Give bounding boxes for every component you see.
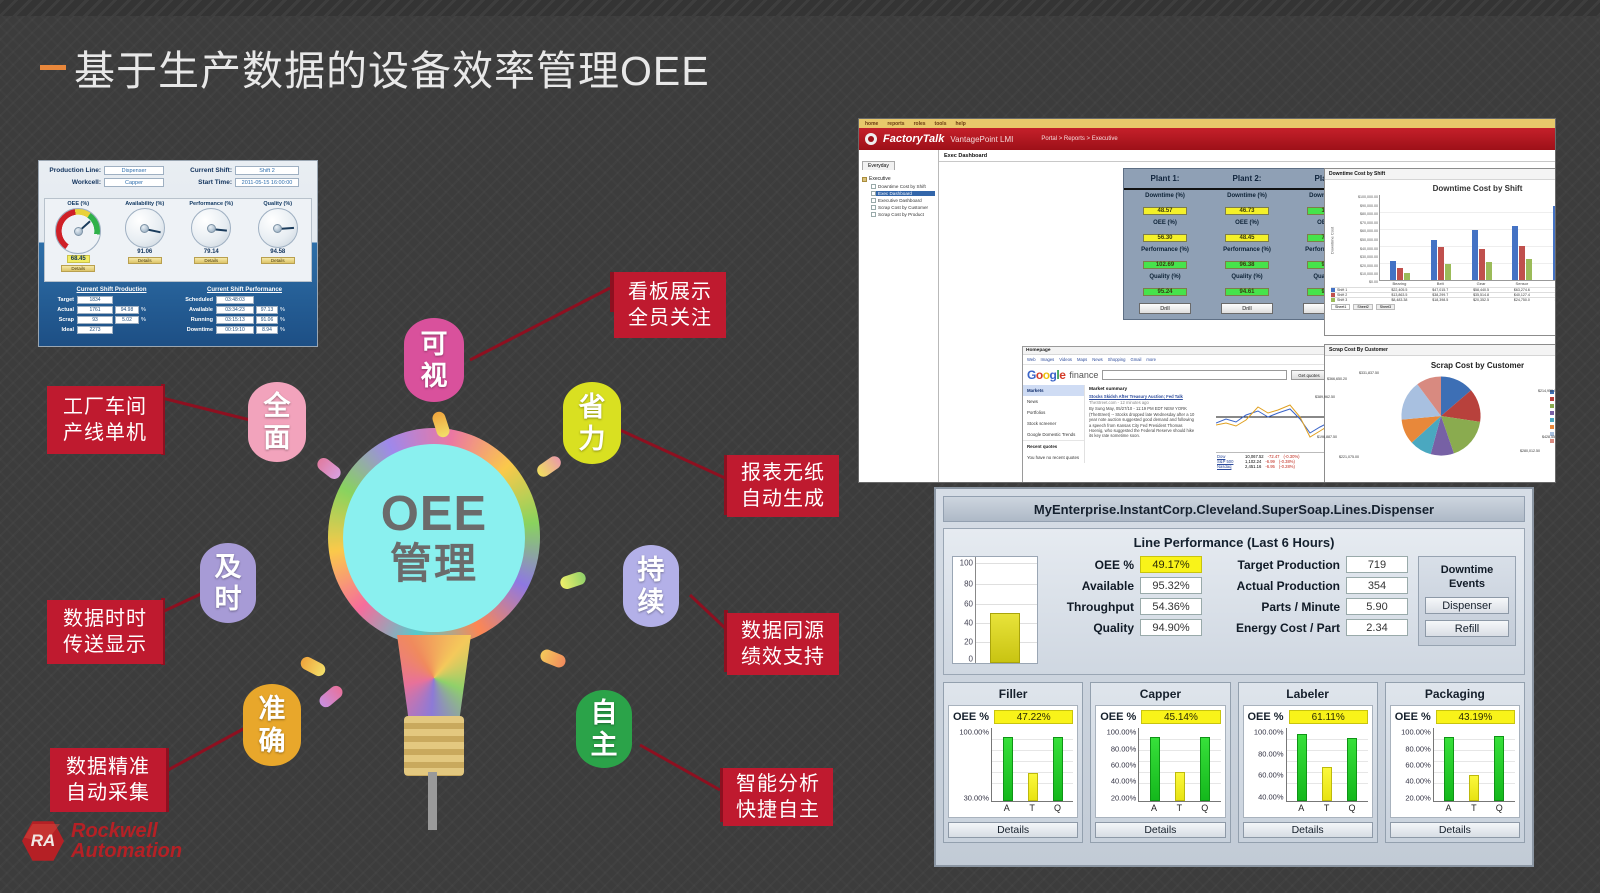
tree-item-label: Scrap Cost by Product	[878, 212, 924, 217]
legend-label: Shift 2	[1337, 293, 1347, 297]
y-tick: 40.00%	[1111, 777, 1136, 786]
gauge-oee-title: OEE (%)	[67, 201, 89, 207]
note-report-line1: 报表无纸	[741, 460, 825, 486]
bar-group-gear	[1472, 230, 1492, 280]
current-shift-production-table: Current Shift Production Target1834 Actu…	[45, 287, 178, 336]
pill-chixu-line1: 持	[638, 554, 665, 586]
row-unit: %	[280, 327, 285, 333]
gauge-quality: Quality (%) 94.58 Details	[245, 199, 312, 281]
rockwell-hex-icon: RA	[22, 820, 64, 862]
pill-zhunque-line1: 准	[259, 693, 286, 725]
bulb-neck	[392, 635, 476, 721]
row-key: Downtime	[178, 327, 216, 333]
tab-sheet2[interactable]: Sheet2	[1353, 304, 1372, 310]
bulb-screw-base	[404, 716, 464, 776]
pill-chixu[interactable]: 持 续	[623, 545, 679, 627]
plant-2-header: Plant 2:	[1206, 169, 1288, 188]
y-tick: 80.00%	[1111, 744, 1136, 753]
y-axis-label: Downtime Cost	[1330, 227, 1335, 254]
gf-nav-web[interactable]: Web	[1027, 357, 1036, 362]
mini-x-axis: A T Q	[1138, 802, 1220, 813]
oee-bar-chart: 100 80 60 40 20 0	[952, 556, 1038, 664]
y-tick: 80.00%	[1258, 749, 1283, 758]
x-tick: Bearing	[1379, 281, 1420, 286]
pill-zizhu-line2: 主	[591, 729, 618, 761]
downtime-title-line1: Downtime	[1425, 563, 1509, 577]
x-tick: Solenoid	[1542, 281, 1556, 286]
station-oee-value: 47.22%	[994, 710, 1073, 724]
bulb-stem	[428, 772, 437, 830]
mini-x-axis: A T Q	[991, 802, 1073, 813]
metric-value: 54.36%	[1140, 598, 1202, 615]
line-performance-grid: 100 80 60 40 20 0 OEE %49.17% Available9…	[952, 556, 1516, 664]
metric-value: 354	[1346, 577, 1408, 594]
gf-body-text: By Sung May, 05/27/10 - 11:19 PM EDT NEW…	[1089, 406, 1197, 438]
y-tick: 60.00%	[1111, 761, 1136, 770]
drill-button-plant1[interactable]: Drill	[1139, 303, 1191, 314]
row-unit: %	[280, 317, 285, 323]
metric-key: Energy Cost / Part	[1212, 621, 1340, 635]
station-mini-chart: 100.00% 80.00% 60.00% 40.00% 20.00%	[1100, 728, 1220, 802]
downtime-button-dispenser[interactable]: Dispenser	[1425, 597, 1509, 614]
note-kanban-line2: 全员关注	[628, 305, 712, 331]
pill-keshi[interactable]: 可 视	[404, 318, 464, 402]
x-axis-labels: Bearing Belt Gear Sensor Solenoid Valve	[1379, 281, 1556, 286]
station-cell-filler[interactable]: Filler OEE % 47.22% 100.00% 30.00%	[943, 682, 1083, 843]
legend-label: Shift 3	[1337, 298, 1347, 302]
label-workcell: Workcell:	[47, 179, 101, 186]
station-oee-label: OEE %	[1100, 711, 1136, 723]
gf-content-title: Market summary	[1089, 387, 1327, 392]
station-mini-chart: 100.00% 80.00% 60.00% 40.00%	[1248, 728, 1368, 802]
pill-jishi-line2: 时	[215, 583, 242, 615]
row-v1: 00:19:10	[216, 326, 254, 334]
metric-actual-production: Actual Production354	[1212, 577, 1408, 594]
x-tick-t: T	[1322, 803, 1332, 813]
note-report[interactable]: 报表无纸 自动生成	[727, 455, 839, 517]
station-title: Labeler	[1243, 687, 1373, 705]
y-tick: 60.00%	[1258, 771, 1283, 780]
gauge-availability-details-button[interactable]: Details	[128, 257, 162, 264]
bulb-center-label: OEE 管理	[343, 444, 525, 632]
tree-item-label: Scrap Cost by Customer	[878, 205, 928, 210]
metric-throughput: Throughput54.36%	[1048, 598, 1202, 615]
gf-sidebar-portfolios[interactable]: Portfolios	[1023, 407, 1084, 418]
metric-label: Performance (%)	[1206, 247, 1288, 253]
pill-quanmian-line1: 全	[264, 390, 291, 422]
metric-value: 2.34	[1346, 619, 1408, 636]
pill-chixu-line2: 续	[638, 586, 665, 618]
gauge-group: OEE (%) 68.45 Details Availability (%) 9…	[44, 198, 312, 282]
value-production-line[interactable]: Dispenser	[104, 166, 164, 175]
row-key: Ideal	[45, 327, 77, 333]
metric-value: 48.45	[1225, 234, 1269, 242]
gauge-availability-value: 91.06	[137, 249, 152, 255]
pie-label: $221,075.00	[1339, 455, 1359, 459]
metric-label: OEE (%)	[1206, 220, 1288, 226]
title-accent-dash	[40, 65, 66, 70]
bar-quality	[1200, 737, 1210, 801]
note-samesource[interactable]: 数据同源 绩效支持	[727, 613, 839, 675]
factorytalk-menubar[interactable]: home reports roles tools help	[859, 119, 1555, 128]
menu-item-home[interactable]: home	[865, 121, 878, 127]
gf-nav-news[interactable]: News	[1092, 357, 1102, 362]
station-title: Packaging	[1390, 687, 1520, 705]
g-letter-2: o	[1036, 368, 1043, 382]
row-unit: %	[280, 307, 285, 313]
note-factory-line2: 产线单机	[63, 420, 147, 446]
station-body: OEE % 45.14% 100.00% 80.00% 60.00% 40.00…	[1095, 705, 1225, 818]
gf-sidebar-domestic-trends[interactable]: Google Domestic Trends	[1023, 429, 1084, 440]
current-shift-performance-table: Current Shift Performance Scheduled03:48…	[178, 287, 311, 336]
x-tick-q: Q	[1200, 803, 1210, 813]
y-tick: 100.00%	[1107, 728, 1137, 737]
table-row: Ideal2273	[45, 326, 178, 334]
row-v2: 97.13	[256, 306, 278, 314]
metric-label: OEE (%)	[1124, 220, 1206, 226]
tree-item-downtime-cost-by-shift[interactable]: Downtime Cost by Shift	[871, 184, 935, 189]
metric-label: Downtime (%)	[1124, 193, 1206, 199]
gauge-performance-value: 79.14	[204, 249, 219, 255]
metric-value: 102.69	[1143, 261, 1187, 269]
legend-label: Shift 1	[1337, 288, 1347, 292]
folder-icon	[862, 177, 867, 182]
metric-energy-cost-per-part: Energy Cost / Part2.34	[1212, 619, 1408, 636]
gf-sidebar-section: Recent quotes	[1023, 440, 1084, 452]
bar-availability	[1150, 737, 1160, 801]
y-tick: 20	[964, 637, 973, 646]
oee-bar	[990, 613, 1020, 663]
factorytalk-product-name: VantagePoint LMI	[950, 135, 1013, 144]
line-path-title: MyEnterprise.InstantCorp.Cleveland.Super…	[1034, 502, 1434, 517]
row-unit: %	[141, 307, 146, 313]
top-texture-strip	[0, 0, 1600, 16]
bar-availability	[1444, 737, 1454, 801]
metric-available: Available95.32%	[1048, 577, 1202, 594]
mini-y-axis: 100.00% 80.00% 60.00% 40.00%	[1248, 728, 1286, 802]
scrap-cost-window[interactable]: Scrap Cost By Customer Scrap Cost by Cus…	[1324, 344, 1556, 483]
metric-key: OEE %	[1048, 558, 1134, 572]
station-body: OEE % 47.22% 100.00% 30.00%	[948, 705, 1078, 818]
note-realtime[interactable]: 数据时时 传送显示	[47, 600, 163, 664]
station-oee-row: OEE % 47.22%	[953, 710, 1073, 724]
y-tick: 20.00%	[1405, 793, 1430, 802]
metric-value: 95.32%	[1140, 577, 1202, 594]
row-v1: 1761	[77, 306, 113, 314]
downtime-title-line2: Events	[1425, 577, 1509, 591]
g-letter-3: o	[1043, 368, 1050, 382]
tree-item-exec-dashboard[interactable]: Exec Dashboard	[871, 191, 935, 196]
bar-group-belt	[1431, 240, 1451, 280]
metric-value: 49.17%	[1140, 556, 1202, 573]
gauge-oee-details-button[interactable]: Details	[61, 265, 95, 272]
value-start-time[interactable]: 2011-05-15 16:00:00	[235, 178, 299, 187]
table-row: Downtime00:19:108.94%	[178, 326, 311, 334]
mini-plot	[1433, 728, 1515, 802]
row-key: Scheduled	[178, 297, 216, 303]
factorytalk-body: Everyday Executive Downtime Cost by Shif…	[859, 150, 1555, 483]
gf-sidebar[interactable]: Markets News Portfolios Stock screener G…	[1023, 385, 1085, 463]
pill-jishi-line1: 及	[215, 551, 242, 583]
mini-x-axis: A T Q	[1433, 802, 1515, 813]
factorytalk-tree-panel[interactable]: Everyday Executive Downtime Cost by Shif…	[859, 150, 939, 483]
station-oee-row: OEE % 45.14%	[1100, 710, 1220, 724]
note-accurate-line2: 自动采集	[66, 780, 150, 806]
note-analysis[interactable]: 智能分析 快捷自主	[723, 768, 833, 826]
pill-quanmian-line2: 面	[264, 422, 291, 454]
oee-lightbulb-graphic: OEE 管理	[300, 420, 570, 860]
tab-everyday[interactable]: Everyday	[862, 161, 895, 170]
pie-label: $280,012.50	[1520, 449, 1540, 453]
tree-item-scrap-cost-by-product[interactable]: Scrap Cost by Product	[871, 212, 935, 217]
downtime-button-refill[interactable]: Refill	[1425, 620, 1509, 637]
metric-oee: OEE %49.17%	[1048, 556, 1202, 573]
gf-nav-shopping[interactable]: Shopping	[1108, 357, 1126, 362]
tab-sheet3[interactable]: Sheet3	[1376, 304, 1395, 310]
bar-quality	[1053, 737, 1063, 801]
details-button-labeler[interactable]: Details	[1243, 822, 1373, 838]
metric-value: 94.61	[1225, 288, 1269, 296]
tree-root-label: Executive	[869, 176, 891, 182]
station-cells: Filler OEE % 47.22% 100.00% 30.00%	[943, 682, 1525, 843]
gauge-performance-details-button[interactable]: Details	[194, 257, 228, 264]
production-table-title: Current Shift Production	[45, 287, 178, 293]
gf-sidebar-markets[interactable]: Markets	[1023, 385, 1084, 396]
table-row: Target1834	[45, 296, 178, 304]
gauge-oee-value: 68.45	[67, 255, 90, 263]
gf-nav-gmail[interactable]: Gmail	[1130, 357, 1141, 362]
station-oee-value: 61.11%	[1289, 710, 1368, 724]
note-realtime-line2: 传送显示	[63, 632, 147, 658]
gf-nav-videos[interactable]: Videos	[1059, 357, 1072, 362]
row-v1: 03:48:03	[216, 296, 254, 304]
row-key: Scrap	[45, 317, 77, 323]
table-row: Actual176194.98%	[45, 306, 178, 314]
note-factory[interactable]: 工厂车间 产线单机	[47, 386, 163, 454]
metric-key: Quality	[1048, 621, 1134, 635]
line-performance-screenshot[interactable]: MyEnterprise.InstantCorp.Cleveland.Super…	[934, 487, 1534, 867]
tree-item-label: Downtime Cost by Shift	[878, 184, 926, 189]
mini-plot	[1138, 728, 1220, 802]
gf-index-list: Dow10,067.52-72.47(-0.30%) S&P 5001,102.…	[1217, 454, 1327, 469]
note-realtime-line1: 数据时时	[63, 606, 147, 632]
metric-label: Performance (%)	[1124, 247, 1206, 253]
x-tick-a: A	[1296, 803, 1306, 813]
y-tick: 100.00%	[1401, 728, 1431, 737]
downtime-cost-window[interactable]: Downtime Cost by Shift Downtime Cost by …	[1324, 168, 1556, 336]
metric-key: Actual Production	[1212, 579, 1340, 593]
mini-plot	[991, 728, 1073, 802]
bar-quality	[1347, 738, 1357, 801]
gauge-quality-dial	[258, 208, 298, 248]
list-item: Nasdaq2,451.16-6.95(-0.28%)	[1217, 464, 1327, 469]
tree-root[interactable]: Executive	[862, 176, 935, 182]
gf-window-title: Homepage	[1023, 347, 1331, 355]
scrap-chart: Scrap Cost by Customer	[1325, 356, 1556, 464]
pie-label: $196,887.50	[1317, 435, 1337, 439]
gf-nav-images[interactable]: Images	[1041, 357, 1055, 362]
gauge-performance-title: Performance (%)	[189, 201, 233, 207]
station-cell-labeler[interactable]: Labeler OEE % 61.11% 100.00% 80.00% 60.0…	[1238, 682, 1378, 843]
x-tick: Gear	[1461, 281, 1502, 286]
sheet-tabs[interactable]: Sheet1 Sheet2 Sheet3	[1331, 304, 1556, 310]
factorytalk-screenshot[interactable]: home reports roles tools help FactoryTal…	[858, 118, 1556, 483]
station-cell-packaging[interactable]: Packaging OEE % 43.19% 100.00% 80.00% 60…	[1385, 682, 1525, 843]
downtime-events-box: Downtime Events Dispenser Refill	[1418, 556, 1516, 646]
note-samesource-line1: 数据同源	[741, 618, 825, 644]
metric-parts-per-minute: Parts / Minute5.90	[1212, 598, 1408, 615]
gf-nav-more[interactable]: more	[1146, 357, 1156, 362]
x-tick-a: A	[1149, 803, 1159, 813]
metric-value: 46.73	[1225, 207, 1269, 215]
y-tick: 30.00%	[964, 793, 989, 802]
note-report-line2: 自动生成	[741, 486, 825, 512]
row-v1: 2273	[77, 326, 113, 334]
gf-content: Market summary Stocks Skidsh After Treas…	[1085, 385, 1331, 463]
menu-item-roles[interactable]: roles	[914, 121, 926, 127]
gf-get-quotes-button[interactable]: Get quotes	[1291, 370, 1327, 380]
table-row: Scheduled03:48:03	[178, 296, 311, 304]
y-tick: 100.00%	[959, 728, 989, 737]
row-v1: 03:34:23	[216, 306, 254, 314]
pie-label: $366,650.20	[1327, 377, 1347, 381]
downtime-chart: Downtime Cost by Shift Downtime Cost $10…	[1325, 180, 1556, 314]
menu-item-help[interactable]: help	[955, 121, 965, 127]
note-kanban[interactable]: 看板展示 全员关注	[614, 272, 726, 338]
g-letter-1: G	[1027, 368, 1036, 382]
performance-table-title: Current Shift Performance	[178, 287, 311, 293]
y-tick: 80.00%	[1405, 744, 1430, 753]
mini-plot	[1286, 728, 1368, 802]
label-current-shift: Current Shift:	[178, 167, 232, 174]
gf-header: Google finance Get quotes	[1023, 365, 1331, 385]
station-oee-row: OEE % 61.11%	[1248, 710, 1368, 724]
g-letter-6: e	[1059, 368, 1065, 382]
breadcrumb[interactable]: Portal > Reports > Executive	[1041, 136, 1117, 142]
details-button-filler[interactable]: Details	[948, 822, 1078, 838]
gf-search-input[interactable]	[1102, 370, 1287, 380]
row-v1: 93	[77, 316, 113, 324]
tree-item-label: Executive Dashboard	[878, 198, 922, 203]
oee-dashboard-screenshot[interactable]: Production Line: Dispenser Current Shift…	[38, 160, 318, 347]
plant-1-header: Plant 1:	[1124, 169, 1206, 188]
metric-target-production: Target Production719	[1212, 556, 1408, 573]
drill-button-plant2[interactable]: Drill	[1221, 303, 1273, 314]
y-tick: 60	[964, 599, 973, 608]
x-tick: Sensor	[1501, 281, 1542, 286]
metric-quality: Quality94.90%	[1048, 619, 1202, 636]
pill-zizhu[interactable]: 自 主	[576, 690, 632, 768]
bulb-label-line1: OEE	[381, 488, 487, 540]
bar-throughput	[1322, 767, 1332, 801]
gf-sidebar-stock-screener[interactable]: Stock screener	[1023, 418, 1084, 429]
gf-index-chart	[1216, 393, 1328, 453]
metric-value: 94.90%	[1140, 619, 1202, 636]
pill-quanmian[interactable]: 全 面	[248, 382, 306, 462]
factorytalk-brand-name: FactoryTalk	[883, 133, 944, 145]
gauge-availability-title: Availability (%)	[125, 201, 164, 207]
logo-wordmark: Rockwell Automation	[71, 821, 182, 861]
row-key: Running	[178, 317, 216, 323]
metric-value: 719	[1346, 556, 1408, 573]
details-button-capper[interactable]: Details	[1095, 822, 1225, 838]
station-oee-row: OEE % 43.19%	[1395, 710, 1515, 724]
station-body: OEE % 61.11% 100.00% 80.00% 60.00% 40.00…	[1243, 705, 1373, 818]
title-bar: 基于生产数据的设备效率管理OEE	[40, 38, 940, 96]
row-key: Available	[178, 307, 216, 313]
menu-item-reports[interactable]: reports	[887, 121, 904, 127]
table-row: Running03:15:1391.06%	[178, 316, 311, 324]
station-oee-label: OEE %	[953, 711, 989, 723]
bar-throughput	[1175, 772, 1185, 801]
google-logo: Google	[1027, 368, 1065, 382]
row-v1: 1834	[77, 296, 113, 304]
gf-nav[interactable]: Web Images Videos Maps News Shopping Gma…	[1023, 355, 1331, 365]
oee-header-fields: Production Line: Dispenser Current Shift…	[39, 161, 317, 197]
shift-tables: Current Shift Production Target1834 Actu…	[39, 283, 317, 336]
gf-nav-maps[interactable]: Maps	[1077, 357, 1087, 362]
y-tick: 40.00%	[1405, 777, 1430, 786]
value-current-shift[interactable]: Shift 2	[235, 166, 299, 175]
report-icon	[871, 191, 876, 196]
station-cell-capper[interactable]: Capper OEE % 45.14% 100.00% 80.00% 60.00…	[1090, 682, 1230, 843]
x-tick-q: Q	[1053, 803, 1063, 813]
mini-x-axis: A T Q	[1286, 802, 1368, 813]
tree-item-executive-dashboard[interactable]: Executive Dashboard	[871, 198, 935, 203]
y-tick: 40.00%	[1258, 792, 1283, 801]
pie-label: $428,550.00	[1542, 435, 1556, 439]
tab-sheet1[interactable]: Sheet1	[1331, 304, 1350, 310]
pill-jishi[interactable]: 及 时	[200, 543, 256, 623]
pill-zhunque[interactable]: 准 确	[243, 684, 301, 766]
station-oee-value: 45.14%	[1141, 710, 1220, 724]
report-icon	[871, 184, 876, 189]
row-v2: 91.06	[256, 316, 278, 324]
pie-label: $389,962.50	[1315, 395, 1335, 399]
tree-item-scrap-cost-by-customer[interactable]: Scrap Cost by Customer	[871, 205, 935, 210]
row-v1: 03:15:13	[216, 316, 254, 324]
station-oee-value: 43.19%	[1436, 710, 1515, 724]
pie-label: $331,837.50	[1359, 371, 1379, 375]
y-tick: 0	[969, 654, 973, 663]
value-workcell[interactable]: Capper	[104, 178, 164, 187]
gauge-performance: Performance (%) 79.14 Details	[178, 199, 245, 281]
chart-data-table: Shift 1 $22,405.5$47,015.7$58,440.5$63,2…	[1331, 287, 1556, 302]
google-finance-window[interactable]: Homepage Web Images Videos Maps News Sho…	[1022, 346, 1332, 483]
mini-y-axis: 100.00% 80.00% 60.00% 40.00% 20.00%	[1395, 728, 1433, 802]
pane-title: Exec Dashboard	[939, 150, 1555, 162]
menu-item-tools[interactable]: tools	[935, 121, 947, 127]
gauge-quality-details-button[interactable]: Details	[261, 257, 295, 264]
factorytalk-main-pane: Exec Dashboard Plant 1: Plant 2: Plant 3…	[939, 150, 1555, 483]
metric-value: 48.57	[1143, 207, 1187, 215]
pie-label: $214,950.00	[1538, 389, 1556, 393]
y-tick: 60.00%	[1405, 761, 1430, 770]
x-tick-a: A	[1443, 803, 1453, 813]
gf-sidebar-news[interactable]: News	[1023, 396, 1084, 407]
factorytalk-brandbar: FactoryTalk VantagePoint LMI Portal > Re…	[859, 128, 1555, 150]
x-tick-a: A	[1002, 803, 1012, 813]
metric-value: 96.38	[1225, 261, 1269, 269]
pill-shengli[interactable]: 省 力	[563, 382, 621, 464]
mini-y-axis: 100.00% 30.00%	[953, 728, 991, 802]
row-v2: 8.94	[256, 326, 278, 334]
row-v2: 94.98	[115, 306, 139, 314]
pill-zhunque-line2: 确	[259, 725, 286, 757]
details-button-packaging[interactable]: Details	[1390, 822, 1520, 838]
note-accurate[interactable]: 数据精准 自动采集	[50, 748, 166, 812]
report-icon	[871, 198, 876, 203]
